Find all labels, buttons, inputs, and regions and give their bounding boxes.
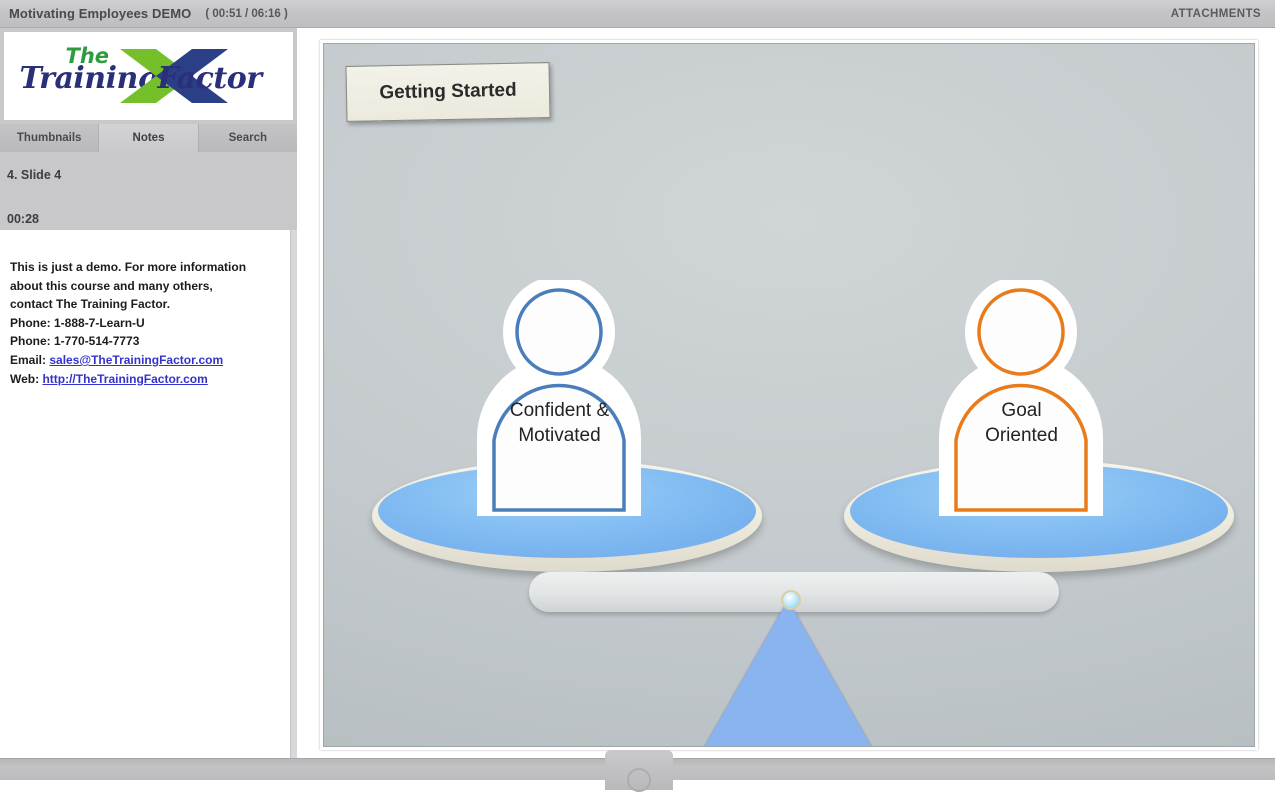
web-link[interactable]: http://TheTrainingFactor.com [42,372,207,386]
tab-notes[interactable]: Notes [99,124,198,152]
attachments-button[interactable]: ATTACHMENTS [1171,8,1261,20]
notes-intro-text: This is just a demo. For more informatio… [10,258,248,314]
scale-pivot [781,590,801,610]
notes-web-label: Web: [10,372,42,386]
logo-text-factor: Factor [158,61,262,96]
notes-email-label: Email: [10,353,49,367]
notes-phone-2: Phone: 1-770-514-7773 [10,332,282,351]
slide-number-label: 4. Slide 4 [7,168,61,182]
balance-scale-graphic: Confident & Motivated Goal [324,44,1254,746]
notes-scrollbar[interactable] [290,230,297,758]
slide-canvas: Getting Started [323,43,1255,747]
time-display: ( 00:51 / 06:16 ) [205,8,287,20]
notes-body: This is just a demo. For more informatio… [0,230,290,388]
sidebar-tabs: Thumbnails Notes Search [0,124,297,152]
notes-email-row: Email: sales@TheTrainingFactor.com [10,351,282,370]
notes-web-row: Web: http://TheTrainingFactor.com [10,370,282,389]
slide-time-label: 00:28 [7,212,39,226]
person-figure-confident-motivated: Confident & Motivated [472,280,647,516]
person-icon [934,280,1109,516]
person-figure-goal-oriented: Goal Oriented [934,280,1109,516]
slide-meta: 4. Slide 4 00:28 [0,152,297,230]
app-header: Motivating Employees DEMO ( 00:51 / 06:1… [0,0,1275,28]
notes-phone-1: Phone: 1-888-7-Learn-U [10,314,282,333]
brand-logo: The Training Factor [4,32,293,120]
play-circle-icon [627,768,651,792]
scale-fulcrum-triangle [704,600,872,747]
email-link[interactable]: sales@TheTrainingFactor.com [49,353,223,367]
person-icon [472,280,647,516]
play-button[interactable] [605,750,673,790]
sidebar: The Training Factor Thumbnails Notes Sea… [0,28,297,758]
course-title: Motivating Employees DEMO [9,6,191,21]
tab-thumbnails[interactable]: Thumbnails [0,124,99,152]
player-bar [0,758,1275,780]
slide-stage: Getting Started [320,40,1258,750]
notes-panel: This is just a demo. For more informatio… [0,230,290,758]
tab-search[interactable]: Search [199,124,297,152]
panel-divider [297,28,320,758]
